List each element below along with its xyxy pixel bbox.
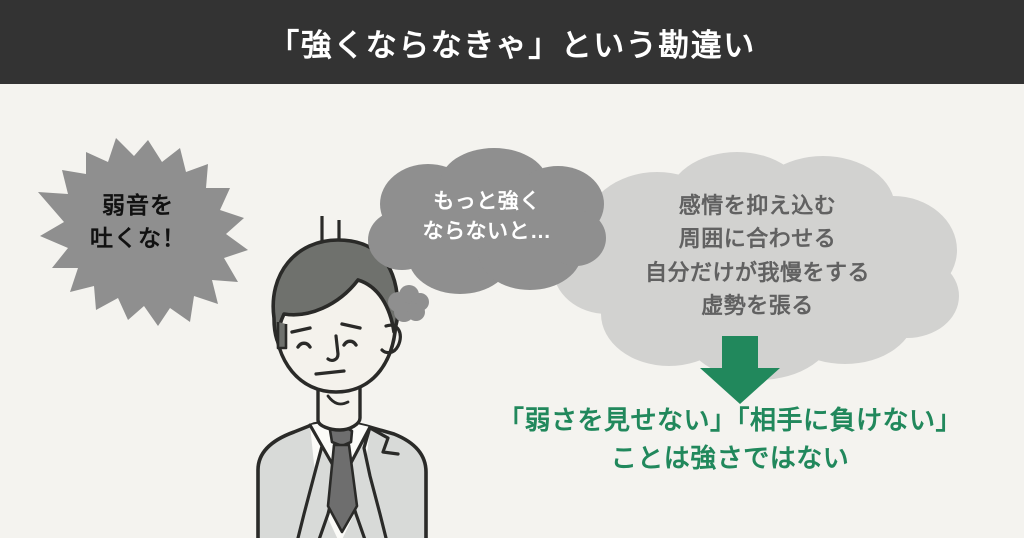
slide-canvas: 「強くならなきゃ」という勘違い xyxy=(0,0,1024,538)
arrow-down-icon xyxy=(692,336,788,404)
page-title: 「強くならなきゃ」という勘違い xyxy=(0,0,1024,84)
thought-trail-puff xyxy=(384,284,432,324)
thought-cloud-large-text: 感情を抑え込む 周囲に合わせる 自分だけが我慢をする 虚勢を張る xyxy=(570,189,945,323)
conclusion-message: 「弱さを見せない」「相手に負けない」 ことは強さではない xyxy=(450,401,1010,478)
content-area: 弱音を 吐くな！ 感情を抑え込む 周囲に合わせる 自分だけが我慢をする 虚勢 xyxy=(0,84,1024,538)
shout-bubble-text: 弱音を 吐くな！ xyxy=(38,189,238,256)
thought-cloud-small-text: もっと強く ならないと… xyxy=(378,187,596,248)
